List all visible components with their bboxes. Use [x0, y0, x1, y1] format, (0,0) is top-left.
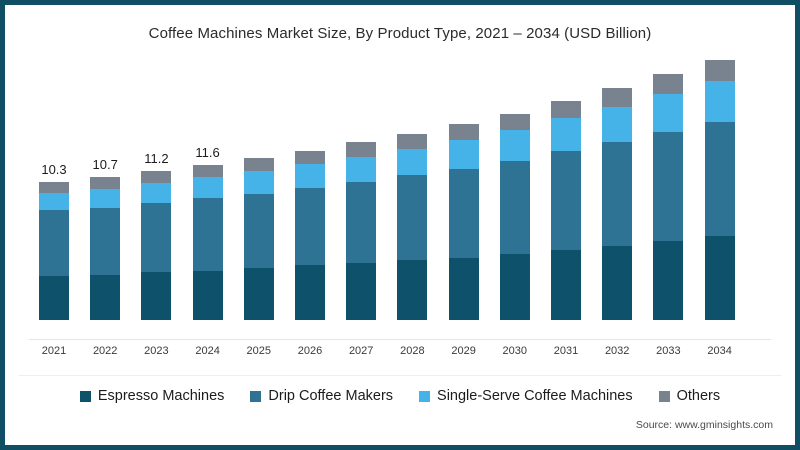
legend-item-espresso-machines[interactable]: Espresso Machines: [80, 388, 225, 404]
bar-stack: [397, 134, 427, 320]
legend-divider: [19, 375, 781, 376]
bar-stack: [193, 165, 223, 320]
bar-segment-drip-coffee-makers[interactable]: [397, 175, 427, 260]
legend-swatch-icon: [659, 391, 670, 402]
bar-segment-others[interactable]: [141, 171, 171, 183]
bar-segment-single-serve-coffee-machines[interactable]: [90, 189, 120, 208]
legend-swatch-icon: [419, 391, 430, 402]
bar-segment-single-serve-coffee-machines[interactable]: [397, 149, 427, 176]
bar-segment-drip-coffee-makers[interactable]: [141, 203, 171, 272]
bar-segment-others[interactable]: [602, 88, 632, 107]
bar-segment-drip-coffee-makers[interactable]: [193, 198, 223, 270]
bar-segment-espresso-machines[interactable]: [90, 275, 120, 320]
bar-segment-espresso-machines[interactable]: [602, 246, 632, 320]
bar-segment-espresso-machines[interactable]: [500, 254, 530, 320]
legend-item-drip-coffee-makers[interactable]: Drip Coffee Makers: [250, 388, 393, 404]
bar-stack: [346, 142, 376, 320]
bar-segment-drip-coffee-makers[interactable]: [39, 210, 69, 276]
bar-segment-others[interactable]: [90, 177, 120, 189]
bar-segment-espresso-machines[interactable]: [449, 258, 479, 320]
chart-frame: Coffee Machines Market Size, By Product …: [0, 0, 800, 450]
bar-segment-single-serve-coffee-machines[interactable]: [39, 193, 69, 210]
bar-segment-espresso-machines[interactable]: [346, 263, 376, 320]
x-axis-baseline: [29, 339, 771, 340]
bar-stack: [141, 171, 171, 320]
bar-segment-single-serve-coffee-machines[interactable]: [653, 94, 683, 132]
x-tick-2034: 2034: [690, 345, 750, 357]
bar-stack: [653, 74, 683, 320]
bar-segment-drip-coffee-makers[interactable]: [500, 161, 530, 254]
bar-segment-others[interactable]: [193, 165, 223, 177]
bar-segment-drip-coffee-makers[interactable]: [244, 194, 274, 268]
bar-segment-single-serve-coffee-machines[interactable]: [244, 171, 274, 194]
bar-total-label-2024: 11.6: [178, 145, 238, 160]
bar-stack: [90, 177, 120, 320]
bar-stack: [244, 158, 274, 320]
bar-segment-drip-coffee-makers[interactable]: [295, 188, 325, 265]
bar-segment-drip-coffee-makers[interactable]: [705, 122, 735, 236]
chart-legend: Espresso MachinesDrip Coffee MakersSingl…: [5, 388, 795, 404]
legend-swatch-icon: [80, 391, 91, 402]
bar-segment-drip-coffee-makers[interactable]: [346, 182, 376, 263]
x-axis-tick-labels: 2021202220232024202520262027202820292030…: [29, 345, 781, 365]
bar-segment-others[interactable]: [397, 134, 427, 149]
bar-segment-others[interactable]: [551, 101, 581, 118]
bar-stack: [602, 88, 632, 320]
bar-segment-espresso-machines[interactable]: [193, 271, 223, 320]
bar-segment-others[interactable]: [653, 74, 683, 94]
legend-label: Espresso Machines: [98, 388, 225, 404]
bar-segment-single-serve-coffee-machines[interactable]: [551, 118, 581, 151]
plot-area: 10.310.711.211.6: [29, 85, 781, 340]
bar-segment-espresso-machines[interactable]: [39, 276, 69, 320]
bar-segment-drip-coffee-makers[interactable]: [653, 132, 683, 240]
source-note: Source: www.gminsights.com: [636, 419, 773, 431]
bar-segment-espresso-machines[interactable]: [397, 260, 427, 320]
bar-segment-espresso-machines[interactable]: [705, 236, 735, 320]
bar-segment-single-serve-coffee-machines[interactable]: [500, 130, 530, 161]
bar-segment-espresso-machines[interactable]: [551, 250, 581, 320]
bar-stack: [705, 60, 735, 320]
bar-segment-single-serve-coffee-machines[interactable]: [449, 140, 479, 169]
legend-label: Single-Serve Coffee Machines: [437, 388, 633, 404]
legend-label: Others: [677, 388, 721, 404]
bar-segment-others[interactable]: [449, 124, 479, 140]
bar-segment-drip-coffee-makers[interactable]: [90, 208, 120, 275]
bar-segment-single-serve-coffee-machines[interactable]: [346, 157, 376, 182]
bar-stack: [551, 101, 581, 320]
bar-stack: [449, 124, 479, 320]
bar-segment-espresso-machines[interactable]: [141, 272, 171, 320]
bar-segment-espresso-machines[interactable]: [653, 241, 683, 320]
bar-segment-drip-coffee-makers[interactable]: [551, 151, 581, 249]
bar-segment-single-serve-coffee-machines[interactable]: [295, 164, 325, 188]
bar-segment-espresso-machines[interactable]: [295, 265, 325, 320]
bar-segment-drip-coffee-makers[interactable]: [602, 142, 632, 245]
bar-segment-others[interactable]: [39, 182, 69, 193]
bar-segment-others[interactable]: [295, 151, 325, 164]
bar-segment-single-serve-coffee-machines[interactable]: [141, 183, 171, 203]
legend-swatch-icon: [250, 391, 261, 402]
bar-segment-espresso-machines[interactable]: [244, 268, 274, 320]
bar-segment-others[interactable]: [346, 142, 376, 157]
bar-segment-others[interactable]: [500, 114, 530, 130]
bar-segment-single-serve-coffee-machines[interactable]: [705, 81, 735, 122]
legend-label: Drip Coffee Makers: [268, 388, 393, 404]
bar-stack: [295, 151, 325, 320]
bar-stack: [500, 114, 530, 320]
bar-segment-single-serve-coffee-machines[interactable]: [193, 177, 223, 198]
bar-segment-single-serve-coffee-machines[interactable]: [602, 107, 632, 143]
legend-item-single-serve-coffee-machines[interactable]: Single-Serve Coffee Machines: [419, 388, 633, 404]
bar-segment-drip-coffee-makers[interactable]: [449, 169, 479, 258]
bar-stack: [39, 182, 69, 320]
bar-segment-others[interactable]: [244, 158, 274, 171]
legend-item-others[interactable]: Others: [659, 388, 721, 404]
chart-title: Coffee Machines Market Size, By Product …: [5, 25, 795, 42]
bar-segment-others[interactable]: [705, 60, 735, 81]
